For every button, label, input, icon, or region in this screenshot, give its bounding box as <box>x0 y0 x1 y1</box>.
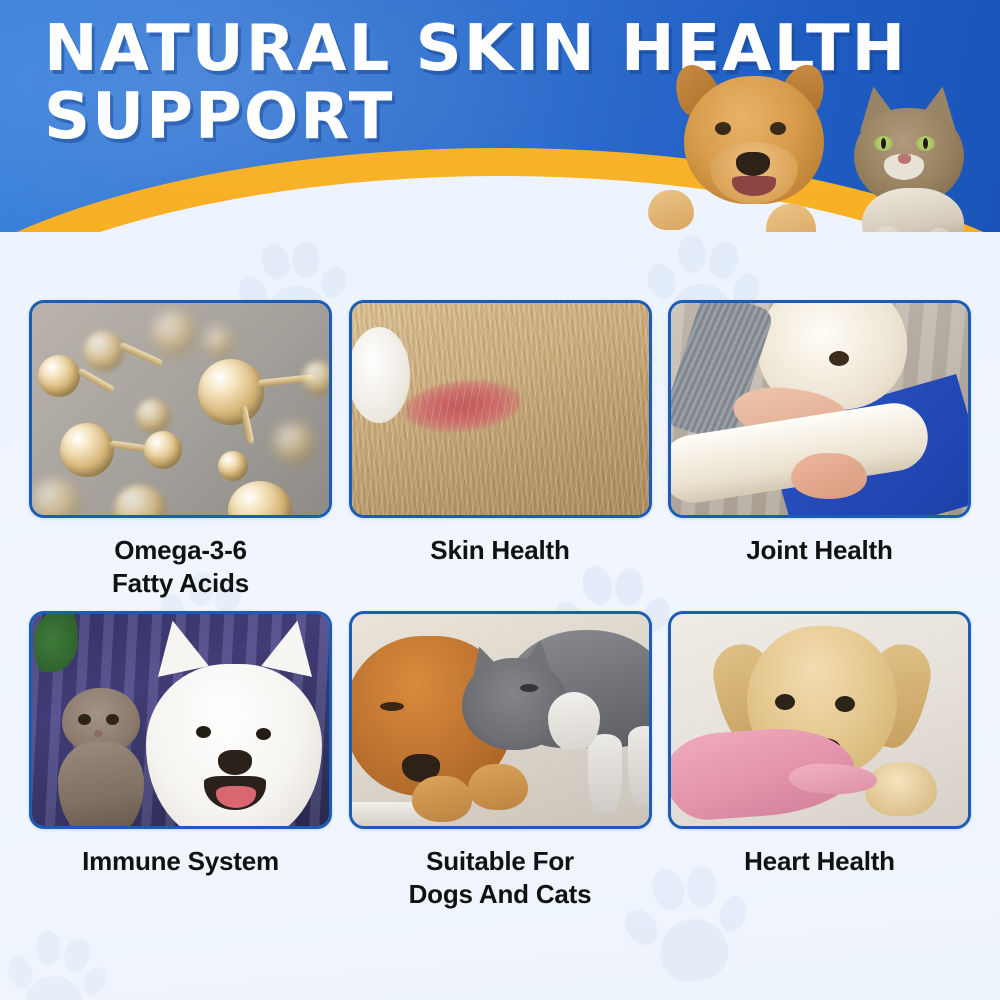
benefit-cell-skin: Skin Health <box>349 300 652 600</box>
benefit-label-immune: Immune System <box>29 845 332 878</box>
benefit-cell-omega: Omega-3-6 Fatty Acids <box>29 300 332 600</box>
header-dog-illustration <box>670 64 850 232</box>
molecules-photo <box>32 303 329 515</box>
caption-line: Omega-3-6 <box>29 534 332 567</box>
caption-line: Dogs And Cats <box>349 878 652 911</box>
benefit-cell-immune: Immune System <box>29 611 332 911</box>
benefits-row: Omega-3-6 Fatty Acids Skin Health <box>0 300 1000 600</box>
benefit-image-suitable[interactable] <box>349 611 652 829</box>
caption-line: Skin Health <box>349 534 652 567</box>
puppy-with-gloved-hand-photo <box>671 614 968 826</box>
product-infographic-poster: NATURAL SKIN HEALTH SUPPORT <box>0 0 1000 1000</box>
benefit-label-heart: Heart Health <box>668 845 971 878</box>
benefits-row: Immune System <box>0 611 1000 911</box>
benefit-cell-joint: Joint Health <box>668 300 971 600</box>
paw-print-icon <box>3 925 108 1000</box>
benefit-cell-suitable: Suitable For Dogs And Cats <box>349 611 652 911</box>
header-cat-illustration <box>846 86 996 232</box>
benefit-image-omega[interactable] <box>29 300 332 518</box>
benefit-label-omega: Omega-3-6 Fatty Acids <box>29 534 332 600</box>
caption-line: Fatty Acids <box>29 567 332 600</box>
benefit-cell-heart: Heart Health <box>668 611 971 911</box>
benefit-image-immune[interactable] <box>29 611 332 829</box>
caption-line: Immune System <box>29 845 332 878</box>
benefit-image-heart[interactable] <box>668 611 971 829</box>
benefit-image-skin[interactable] <box>349 300 652 518</box>
dog-and-cat-eating-photo <box>352 614 649 826</box>
caption-line: Suitable For <box>349 845 652 878</box>
header-pets <box>660 58 1000 232</box>
hand-holding-dog-paw-photo <box>671 303 968 515</box>
benefit-label-skin: Skin Health <box>349 534 652 567</box>
dog-skin-irritation-photo <box>352 303 649 515</box>
white-dog-and-cat-photo <box>32 614 329 826</box>
benefit-label-suitable: Suitable For Dogs And Cats <box>349 845 652 911</box>
benefit-image-joint[interactable] <box>668 300 971 518</box>
caption-line: Heart Health <box>668 845 971 878</box>
header-banner: NATURAL SKIN HEALTH SUPPORT <box>0 0 1000 232</box>
benefit-label-joint: Joint Health <box>668 534 971 567</box>
caption-line: Joint Health <box>668 534 971 567</box>
benefits-grid: Omega-3-6 Fatty Acids Skin Health <box>0 300 1000 911</box>
